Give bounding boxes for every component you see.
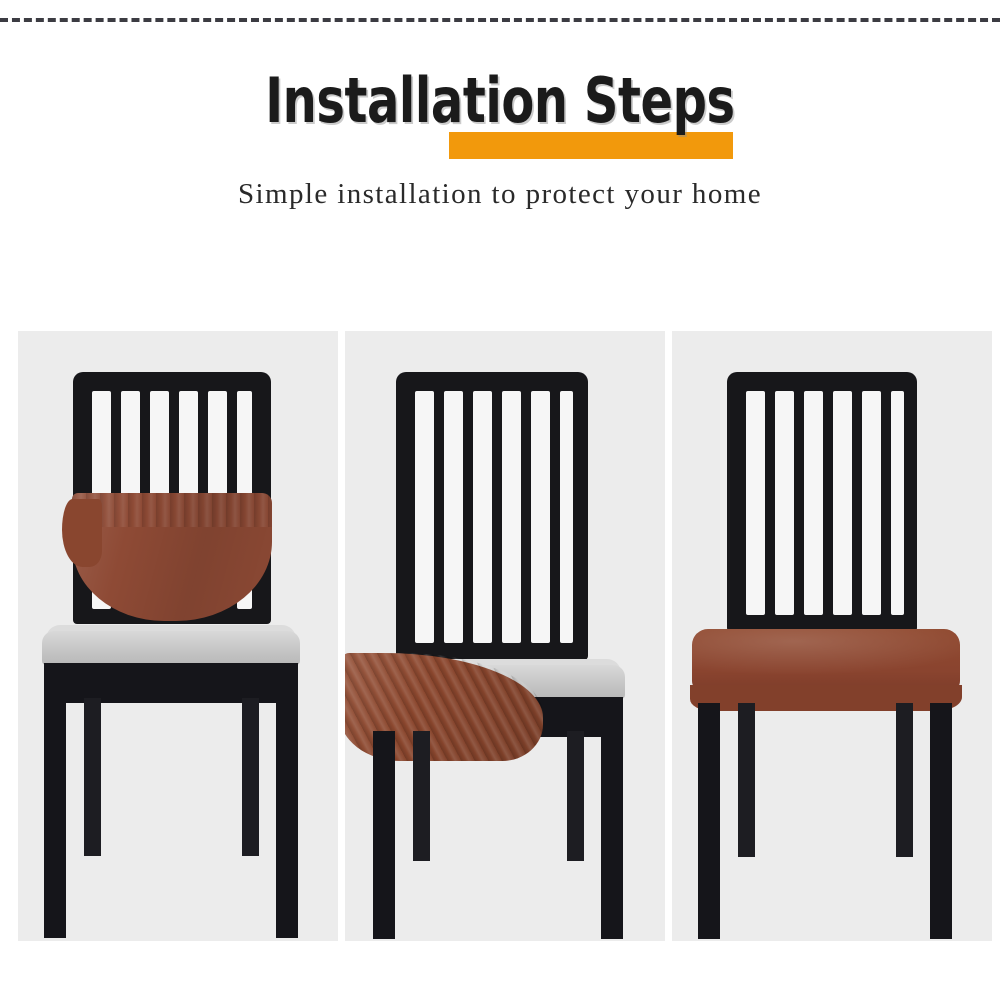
chair-leg-front-right-1	[276, 698, 298, 938]
steps-gallery	[18, 331, 992, 941]
backrest-gap-2e	[531, 391, 550, 643]
backrest-gap-3b	[775, 391, 794, 615]
header: Installation Steps Simple installation t…	[0, 70, 1000, 211]
top-dashed-divider	[0, 18, 1000, 22]
page-subtitle: Simple installation to protect your home	[0, 178, 1000, 211]
backrest-gap-2d	[502, 391, 521, 643]
backrest-gap-2f	[560, 391, 573, 643]
chair-leg-back-right-2	[567, 731, 584, 861]
backrest-gap-3d	[833, 391, 852, 615]
page-title-text: Installation Steps	[265, 70, 734, 132]
page-title: Installation Steps	[221, 70, 779, 132]
backrest-gap-3a	[746, 391, 765, 615]
backrest-gap-3c	[804, 391, 823, 615]
chair-leg-front-left-1	[44, 698, 66, 938]
slipcover-fold-texture-1	[72, 493, 272, 527]
chair-leg-front-left-2	[373, 731, 395, 939]
chair-illustration-3	[672, 373, 992, 941]
seat-apron-1	[44, 663, 298, 703]
chair-leg-back-right-3	[896, 703, 913, 857]
chair-leg-front-right-2	[601, 731, 623, 939]
backrest-gap-2b	[444, 391, 463, 643]
backrest-gap-2a	[415, 391, 434, 643]
slipcover-tail-1	[62, 499, 102, 567]
chair-leg-front-left-3	[698, 703, 720, 939]
slipcover-hem-3	[690, 685, 962, 711]
step-panel-3[interactable]	[672, 331, 992, 941]
step-panel-1[interactable]	[18, 331, 338, 941]
backrest-gap-3f	[891, 391, 904, 615]
backrest-gap-2c	[473, 391, 492, 643]
chair-leg-back-left-3	[738, 703, 755, 857]
chair-leg-back-right-1	[242, 698, 259, 856]
chair-illustration-2	[345, 373, 665, 941]
chair-illustration-1	[18, 373, 338, 941]
seat-cushion-1	[42, 631, 300, 665]
chair-leg-back-left-2	[413, 731, 430, 861]
slipcover-fitted-3	[692, 629, 960, 691]
step-panel-2[interactable]	[345, 331, 665, 941]
chair-leg-front-right-3	[930, 703, 952, 939]
chair-leg-back-left-1	[84, 698, 101, 856]
backrest-gap-3e	[862, 391, 881, 615]
